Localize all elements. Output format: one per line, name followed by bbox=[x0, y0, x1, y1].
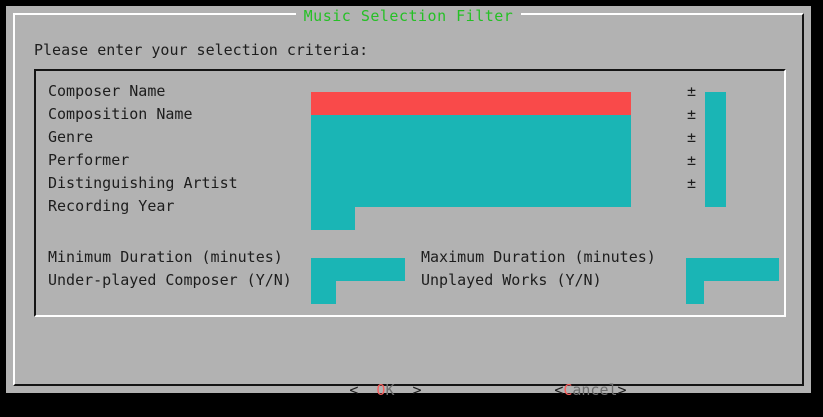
input-performer[interactable] bbox=[311, 161, 631, 184]
label-composer-name: Composer Name bbox=[48, 83, 165, 100]
label-distinguishing-artist: Distinguishing Artist bbox=[48, 175, 238, 192]
input-tolerance-genre[interactable] bbox=[705, 138, 726, 161]
tolerance-icon-composer-name: ± bbox=[687, 83, 696, 100]
ok-button[interactable]: < OK > bbox=[259, 363, 422, 417]
dialog-frame: Music Selection Filter Please enter your… bbox=[13, 13, 804, 386]
criteria-panel: Composer Name Composition Name Genre Per… bbox=[34, 69, 786, 317]
input-tolerance-performer[interactable] bbox=[705, 161, 726, 184]
input-tolerance-composer-name[interactable] bbox=[705, 92, 726, 115]
tolerance-icon-composition-name: ± bbox=[687, 106, 696, 123]
input-composition-name[interactable] bbox=[311, 115, 631, 138]
cancel-label-rest: ancel bbox=[572, 381, 617, 399]
input-recording-year[interactable] bbox=[311, 207, 355, 230]
button-row: < OK > <Cancel> bbox=[15, 355, 802, 395]
music-selection-filter-dialog: Music Selection Filter Please enter your… bbox=[6, 6, 811, 393]
input-genre[interactable] bbox=[311, 138, 631, 161]
dialog-title-bar: Music Selection Filter bbox=[15, 6, 802, 25]
label-unplayed-works: Unplayed Works (Y/N) bbox=[421, 272, 602, 289]
label-performer: Performer bbox=[48, 152, 129, 169]
input-tolerance-composition-name[interactable] bbox=[705, 115, 726, 138]
input-under-played-composer[interactable] bbox=[311, 281, 336, 304]
input-unplayed-works[interactable] bbox=[686, 281, 704, 304]
tolerance-icon-performer: ± bbox=[687, 152, 696, 169]
cancel-button[interactable]: <Cancel> bbox=[464, 363, 627, 417]
prompt-text: Please enter your selection criteria: bbox=[34, 41, 368, 59]
ok-gap-left bbox=[358, 381, 376, 399]
cancel-close-bracket: > bbox=[618, 381, 627, 399]
tolerance-icon-genre: ± bbox=[687, 129, 696, 146]
ok-open-bracket: < bbox=[349, 381, 358, 399]
input-tolerance-distinguishing-artist[interactable] bbox=[705, 184, 726, 207]
input-minimum-duration[interactable] bbox=[311, 258, 405, 281]
input-composer-name[interactable] bbox=[311, 92, 631, 115]
screen-background: Music Selection Filter Please enter your… bbox=[0, 0, 823, 405]
label-maximum-duration: Maximum Duration (minutes) bbox=[421, 249, 656, 266]
cancel-open-bracket: < bbox=[554, 381, 563, 399]
label-composition-name: Composition Name bbox=[48, 106, 193, 123]
dialog-title: Music Selection Filter bbox=[296, 8, 522, 25]
ok-close-bracket: > bbox=[413, 381, 422, 399]
label-minimum-duration: Minimum Duration (minutes) bbox=[48, 249, 283, 266]
ok-gap-right bbox=[394, 381, 412, 399]
label-recording-year: Recording Year bbox=[48, 198, 174, 215]
label-under-played-composer: Under-played Composer (Y/N) bbox=[48, 272, 292, 289]
label-genre: Genre bbox=[48, 129, 93, 146]
input-distinguishing-artist[interactable] bbox=[311, 184, 631, 207]
tolerance-icon-distinguishing-artist: ± bbox=[687, 175, 696, 192]
input-maximum-duration[interactable] bbox=[686, 258, 779, 281]
